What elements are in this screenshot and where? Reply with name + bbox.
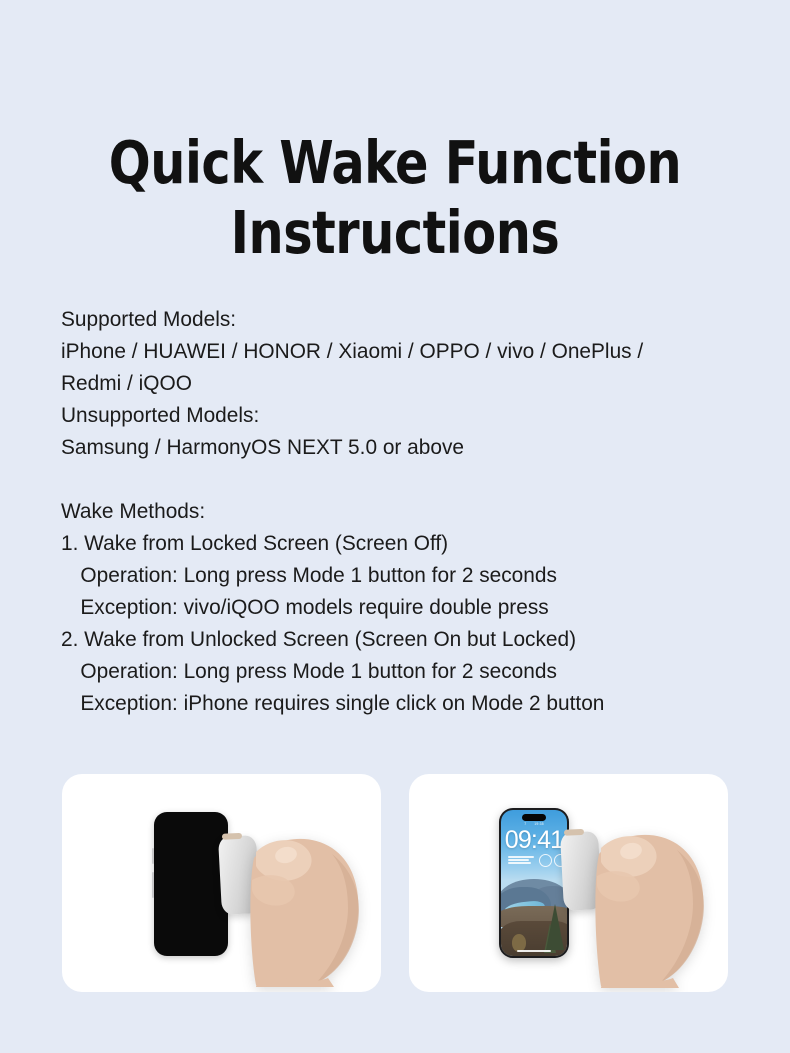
notification-line-2	[508, 859, 529, 861]
page-title: Quick Wake Function Instructions	[0, 128, 790, 268]
supported-models-line-1: iPhone / HUAWEI / HONOR / Xiaomi / OPPO …	[61, 335, 730, 367]
unsupported-models-label: Unsupported Models:	[61, 399, 730, 431]
page-title-line-2: Instructions	[28, 198, 763, 268]
wake-method-2-operation: Operation: Long press Mode 1 button for …	[61, 655, 730, 687]
illustration-card-screen-off	[62, 774, 381, 992]
lockscreen-widget-1[interactable]	[539, 854, 552, 867]
illustration-card-screen-on: 7 19:35 09:41	[409, 774, 728, 992]
home-indicator	[517, 950, 551, 952]
wake-method-1-operation: Operation: Long press Mode 1 button for …	[61, 559, 730, 591]
paragraph-spacer	[61, 463, 730, 495]
notification-line-1	[508, 856, 534, 858]
wallpaper-shrub	[512, 934, 527, 952]
page-title-line-1: Quick Wake Function	[28, 128, 763, 198]
scene-screen-off	[62, 774, 381, 992]
supported-models-line-2: Redmi / iQOO	[61, 367, 730, 399]
dynamic-island	[522, 814, 546, 821]
wake-method-1-exception: Exception: vivo/iQOO models require doub…	[61, 591, 730, 623]
notification-widget[interactable]	[508, 856, 534, 865]
unsupported-models-value: Samsung / HarmonyOS NEXT 5.0 or above	[61, 431, 730, 463]
notification-line-3	[508, 862, 531, 864]
hand-illustration-left	[212, 822, 381, 987]
wake-method-2-exception: Exception: iPhone requires single click …	[61, 687, 730, 719]
wake-method-2-title: 2. Wake from Unlocked Screen (Screen On …	[61, 623, 730, 655]
scene-screen-on-locked: 7 19:35 09:41	[409, 774, 728, 992]
illustration-cards: 7 19:35 09:41	[62, 774, 728, 992]
supported-models-label: Supported Models:	[61, 303, 730, 335]
instructions-body: Supported Models: iPhone / HUAWEI / HONO…	[61, 303, 751, 719]
hand-illustration-right	[555, 818, 728, 988]
wake-methods-label: Wake Methods:	[61, 495, 730, 527]
instruction-page: Quick Wake Function Instructions Support…	[0, 0, 790, 1053]
wake-method-1-title: 1. Wake from Locked Screen (Screen Off)	[61, 527, 730, 559]
